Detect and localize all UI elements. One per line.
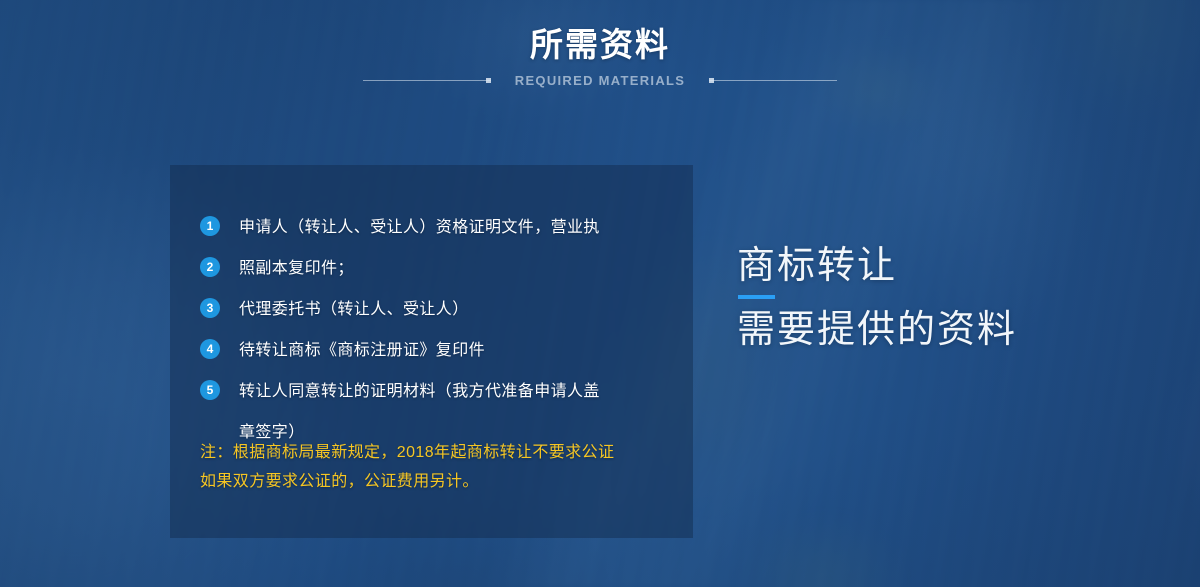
- list-item: 1 申请人（转让人、受让人）资格证明文件，营业执: [200, 213, 670, 242]
- right-heading-block: 商标转让 需要提供的资料: [737, 243, 1017, 353]
- list-number-badge: 1: [200, 216, 220, 236]
- materials-list: 1 申请人（转让人、受让人）资格证明文件，营业执 2 照副本复印件； 3 代理委…: [200, 213, 670, 459]
- materials-note: 注：根据商标局最新规定，2018年起商标转让不要求公证 如果双方要求公证的，公证…: [200, 438, 666, 496]
- decor-dot-left: [486, 78, 491, 83]
- list-number-badge: 5: [200, 380, 220, 400]
- list-item-text: 申请人（转让人、受让人）资格证明文件，营业执: [239, 213, 600, 242]
- list-number-badge: 2: [200, 257, 220, 277]
- note-line-2: 如果双方要求公证的，公证费用另计。: [200, 467, 666, 496]
- list-item: 4 待转让商标《商标注册证》复印件: [200, 336, 670, 365]
- decor-dot-right: [709, 78, 714, 83]
- page-title: 所需资料: [0, 24, 1200, 66]
- list-number-badge: 4: [200, 339, 220, 359]
- list-item-text: 转让人同意转让的证明材料（我方代准备申请人盖: [239, 377, 600, 406]
- list-item-text: 代理委托书（转让人、受让人）: [239, 295, 469, 324]
- decor-line-right: [709, 80, 837, 81]
- page-subtitle: REQUIRED MATERIALS: [515, 73, 686, 88]
- banner-stage: 所需资料 REQUIRED MATERIALS 1 申请人（转让人、受让人）资格…: [0, 0, 1200, 587]
- decor-line-left: [363, 80, 491, 81]
- list-item: 5 转让人同意转让的证明材料（我方代准备申请人盖: [200, 377, 670, 406]
- list-item-text: 照副本复印件；: [239, 254, 354, 283]
- list-item: 2 照副本复印件；: [200, 254, 670, 283]
- right-heading-line-1: 商标转让: [737, 243, 1017, 289]
- section-header: 所需资料 REQUIRED MATERIALS: [0, 24, 1200, 90]
- list-item-text: 待转让商标《商标注册证》复印件: [239, 336, 485, 365]
- right-heading-line-2: 需要提供的资料: [737, 307, 1017, 353]
- list-number-badge: 3: [200, 298, 220, 318]
- note-line-1: 注：根据商标局最新规定，2018年起商标转让不要求公证: [200, 438, 666, 467]
- subtitle-row: REQUIRED MATERIALS: [0, 70, 1200, 90]
- list-item: 3 代理委托书（转让人、受让人）: [200, 295, 670, 324]
- right-heading-accent-rule: [738, 295, 775, 299]
